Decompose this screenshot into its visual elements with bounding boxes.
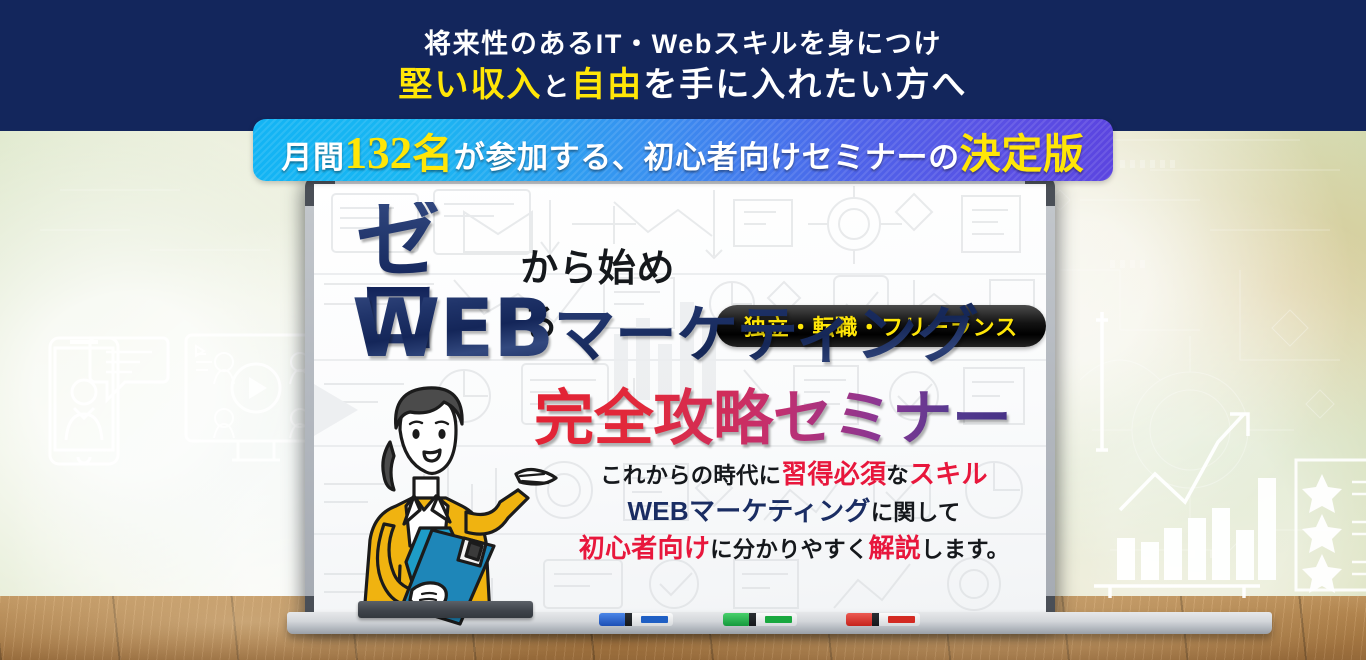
header-line-1: 将来性のあるIT・Webスキルを身につけ [0, 22, 1366, 61]
whiteboard-eraser [358, 601, 533, 618]
blue-marker-cap [599, 613, 625, 626]
desc-1c: な [886, 463, 909, 488]
desc-1d: スキル [909, 459, 988, 489]
blue-marker [599, 613, 673, 626]
description-row-3: 初心者向けに分かりやすく解説します。 [564, 530, 1024, 567]
red-marker [846, 613, 920, 626]
title-web: WEB [352, 282, 553, 375]
header-line-2: 堅い収入と自由を手に入れたい方へ [0, 57, 1366, 106]
desc-3b: に分かりやすく [710, 537, 868, 562]
green-marker-body [756, 613, 797, 626]
blue-marker-body [632, 613, 673, 626]
green-marker-cap [723, 613, 749, 626]
star-rating-icon [1296, 460, 1366, 593]
desc-3a: 初心者向け [579, 533, 710, 563]
green-marker [723, 613, 797, 626]
seminar-ribbon: 月間132名が参加する、初心者向けセミナーの決定版 [253, 119, 1113, 181]
ribbon-prefix: 月間 [281, 140, 344, 175]
presenter-illustration [330, 378, 560, 626]
desc-2b: に関して [871, 500, 961, 525]
red-marker-body [879, 613, 920, 626]
ribbon-text: 月間132名が参加する、初心者向けセミナーの決定版 [281, 120, 1084, 180]
smartphone-chat-icon [50, 338, 168, 464]
desc-1a: これからの時代に [600, 463, 781, 488]
ribbon-count: 132 [345, 128, 413, 178]
desc-2a: WEBマーケティング [628, 496, 871, 526]
ribbon-emphasis: 決定版 [960, 131, 1085, 177]
ribbon-count-unit: 名 [412, 131, 454, 177]
hero-banner: ゼロ から始める 独立・転職・フリーランス WEB マーケティング 完全攻略セミ… [0, 0, 1366, 660]
red-marker-cap [846, 613, 872, 626]
top-header: 将来性のあるIT・Webスキルを身につけ 堅い収入と自由を手に入れたい方へ [0, 0, 1366, 131]
header-line-2-tail: を手に入れたい方へ [643, 66, 967, 104]
desc-1b: 習得必須 [781, 459, 886, 489]
description-row-1: これからの時代に習得必須なスキル [564, 456, 1024, 493]
desc-3d: します。 [921, 537, 1009, 562]
desc-3c: 解説 [868, 533, 921, 563]
board-title-line-2: WEB マーケティング [352, 282, 978, 375]
board-title-line-3: 完全攻略セミナー [534, 370, 1012, 457]
description-row-2: WEBマーケティングに関して [564, 493, 1024, 530]
header-highlight-income: 堅い収入 [398, 66, 542, 104]
ribbon-middle: が参加する、初心者向けセミナーの [454, 140, 960, 175]
header-conj: と [543, 72, 572, 102]
bar-chart-growth-icon [1094, 312, 1276, 598]
title-marketing: マーケティング [553, 284, 978, 374]
blue-marker-band [625, 613, 632, 626]
board-description: これからの時代に習得必須なスキル WEBマーケティングに関して 初心者向けに分か… [564, 456, 1024, 567]
green-marker-band [749, 613, 756, 626]
title-complete-seminar: 完全攻略セミナー [534, 385, 1012, 452]
red-marker-band [872, 613, 879, 626]
header-highlight-freedom: 自由 [571, 66, 643, 104]
